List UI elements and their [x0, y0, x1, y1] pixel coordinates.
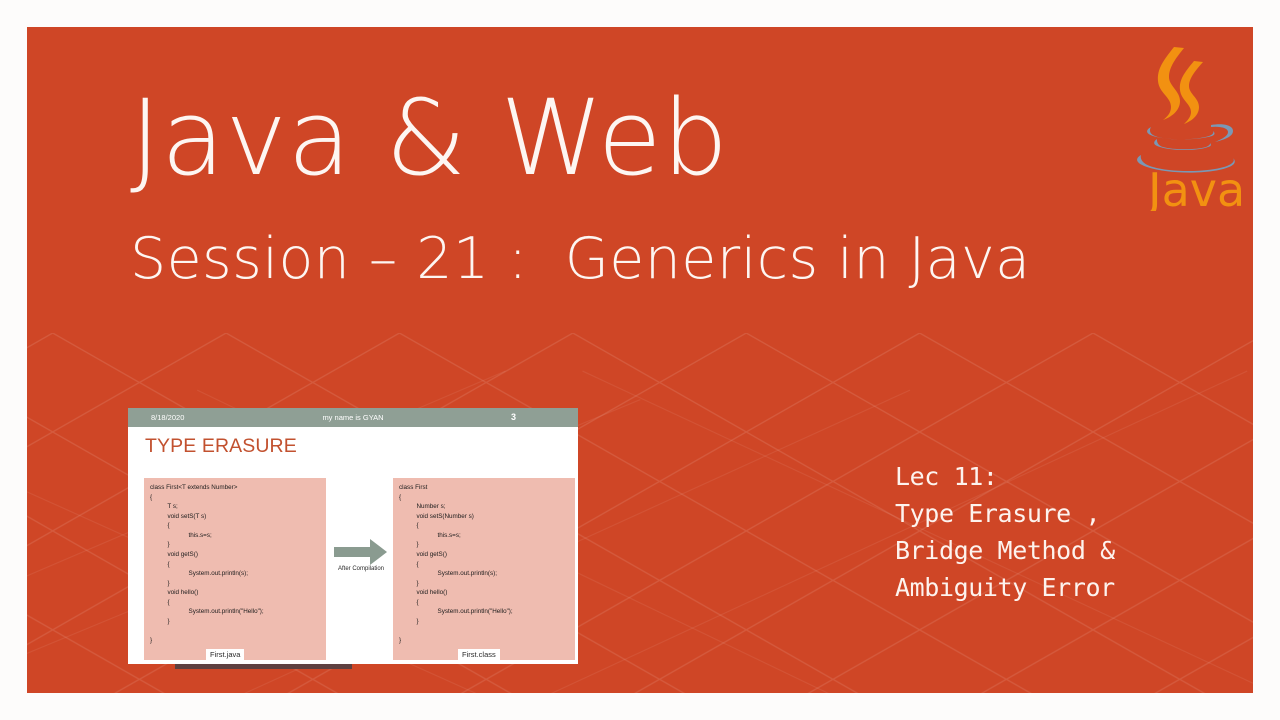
- thumbnail-header-bar: 8/18/2020 my name is GYAN 3: [128, 408, 578, 427]
- java-logo-icon: Java: [1127, 39, 1245, 211]
- page-title: Java & Web: [130, 82, 1130, 194]
- headline-block: Java & Web Session – 21 : Generics in Ja…: [130, 82, 1130, 291]
- slide-thumbnail-image: 8/18/2020 my name is GYAN 3 TYPE ERASURE…: [128, 408, 578, 664]
- session-subtitle: Session – 21 : Generics in Java: [130, 228, 1130, 291]
- java-wordmark-text: Java: [1145, 163, 1245, 211]
- thumbnail-title: TYPE ERASURE: [145, 435, 297, 458]
- file-label-compiled: First.class: [458, 649, 500, 660]
- lecture-line-2: Type Erasure ,: [895, 495, 1195, 532]
- thumbnail-underline-bar: [175, 664, 352, 669]
- code-block-compiled: class First { Number s; void setS(Number…: [393, 478, 575, 660]
- compile-arrow-label: After Compilation: [327, 566, 395, 572]
- lecture-topic-list: Lec 11: Type Erasure , Bridge Method & A…: [895, 458, 1195, 606]
- slide-canvas: Java & Web Session – 21 : Generics in Ja…: [27, 27, 1253, 693]
- lecture-line-1: Lec 11:: [895, 458, 1195, 495]
- file-label-source: First.java: [206, 649, 244, 660]
- code-block-source: class First<T extends Number> { T s; voi…: [144, 478, 326, 660]
- lecture-line-4: Ambiguity Error: [895, 569, 1195, 606]
- title-slide: Java & Web Session – 21 : Generics in Ja…: [0, 0, 1280, 720]
- lecture-line-3: Bridge Method &: [895, 532, 1195, 569]
- thumbnail-slide-number: 3: [511, 408, 516, 427]
- right-arrow-icon: [332, 536, 389, 568]
